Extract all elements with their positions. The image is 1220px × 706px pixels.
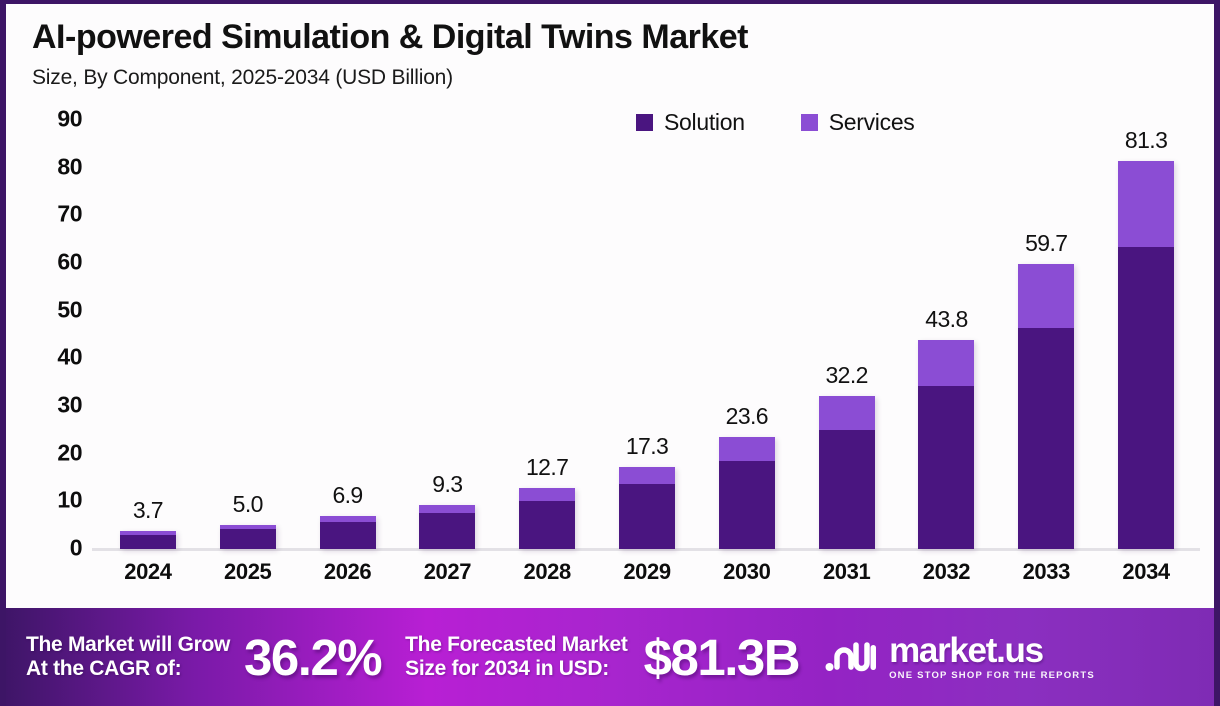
bar-group[interactable]: 12.7	[519, 488, 575, 549]
bar-segment-solution[interactable]	[120, 535, 176, 549]
y-axis-tick: 20	[57, 439, 82, 466]
bar-total-label: 32.2	[825, 362, 867, 389]
bar-segment-services[interactable]	[419, 505, 475, 514]
logo-text: market.us ONE STOP SHOP FOR THE REPORTS	[889, 633, 1095, 681]
bar-total-label: 17.3	[626, 433, 668, 460]
bar-group[interactable]: 5.0	[220, 525, 276, 549]
market-us-logo[interactable]: market.us ONE STOP SHOP FOR THE REPORTS	[825, 633, 1095, 681]
y-axis-tick: 30	[57, 392, 82, 419]
chart-subtitle: Size, By Component, 2025-2034 (USD Billi…	[32, 66, 1214, 90]
bar-group[interactable]: 3.7	[120, 531, 176, 549]
y-axis-tick: 0	[70, 535, 82, 562]
bar-segment-services[interactable]	[1118, 161, 1174, 246]
x-axis: 2024202520262027202820292030203120322033…	[98, 559, 1196, 599]
bar-group[interactable]: 59.7	[1018, 264, 1074, 549]
bar-segment-solution[interactable]	[320, 522, 376, 549]
bars-container: 3.75.06.99.312.717.323.632.243.859.781.3	[98, 119, 1196, 549]
bar-group[interactable]: 17.3	[619, 467, 675, 549]
bar-stack[interactable]	[320, 516, 376, 549]
bar-group[interactable]: 43.8	[918, 340, 974, 549]
cagr-caption-line-2: At the CAGR of:	[26, 657, 230, 681]
plot-area: 0102030405060708090 3.75.06.99.312.717.3…	[6, 119, 1214, 599]
y-axis: 0102030405060708090	[6, 119, 92, 549]
cagr-value: 36.2%	[244, 628, 381, 687]
bar-total-label: 5.0	[233, 491, 263, 518]
bar-total-label: 43.8	[925, 306, 967, 333]
forecast-size-value: $81.3B	[644, 628, 799, 687]
x-axis-tick: 2028	[524, 559, 571, 585]
bar-stack[interactable]	[1018, 264, 1074, 549]
x-axis-tick: 2031	[823, 559, 870, 585]
bar-stack[interactable]	[120, 531, 176, 549]
bar-stack[interactable]	[220, 525, 276, 549]
bar-total-label: 6.9	[332, 482, 362, 509]
bar-segment-solution[interactable]	[719, 461, 775, 549]
logo-tagline: ONE STOP SHOP FOR THE REPORTS	[889, 670, 1095, 681]
bar-segment-solution[interactable]	[619, 484, 675, 549]
x-axis-tick: 2032	[923, 559, 970, 585]
x-axis-tick: 2030	[723, 559, 770, 585]
bar-stack[interactable]	[1118, 161, 1174, 549]
y-axis-tick: 90	[57, 106, 82, 133]
bar-segment-solution[interactable]	[519, 501, 575, 549]
bar-stack[interactable]	[918, 340, 974, 549]
market-infographic: AI-powered Simulation & Digital Twins Ma…	[0, 0, 1220, 706]
x-axis-tick: 2025	[224, 559, 271, 585]
y-axis-tick: 50	[57, 296, 82, 323]
cagr-caption: The Market will Grow At the CAGR of:	[26, 633, 230, 682]
bar-total-label: 59.7	[1025, 230, 1067, 257]
bar-segment-solution[interactable]	[918, 386, 974, 549]
bar-segment-services[interactable]	[519, 488, 575, 500]
forecast-caption-line-2: Size for 2034 in USD:	[405, 657, 627, 681]
y-axis-tick: 70	[57, 201, 82, 228]
bar-segment-solution[interactable]	[1118, 247, 1174, 549]
bar-group[interactable]: 6.9	[320, 516, 376, 549]
bar-segment-solution[interactable]	[419, 513, 475, 549]
bar-total-label: 9.3	[432, 471, 462, 498]
y-axis-tick: 60	[57, 249, 82, 276]
y-axis-tick: 80	[57, 153, 82, 180]
cagr-caption-line-1: The Market will Grow	[26, 633, 230, 657]
bar-segment-solution[interactable]	[1018, 328, 1074, 549]
bar-stack[interactable]	[719, 437, 775, 549]
logo-wordmark: market.us	[889, 633, 1095, 668]
bar-group[interactable]: 81.3	[1118, 161, 1174, 549]
bar-segment-solution[interactable]	[819, 430, 875, 549]
footer-stats-banner: The Market will Grow At the CAGR of: 36.…	[0, 608, 1220, 706]
bar-group[interactable]: 23.6	[719, 437, 775, 549]
bar-stack[interactable]	[519, 488, 575, 549]
bar-segment-services[interactable]	[918, 340, 974, 386]
bar-stack[interactable]	[619, 467, 675, 549]
bar-total-label: 3.7	[133, 497, 163, 524]
x-axis-tick: 2033	[1023, 559, 1070, 585]
bar-total-label: 23.6	[726, 403, 768, 430]
x-axis-tick: 2027	[424, 559, 471, 585]
forecast-caption-line-1: The Forecasted Market	[405, 633, 627, 657]
bar-segment-services[interactable]	[819, 396, 875, 430]
bar-total-label: 12.7	[526, 454, 568, 481]
page-title: AI-powered Simulation & Digital Twins Ma…	[32, 18, 1214, 57]
bar-segment-services[interactable]	[719, 437, 775, 461]
chart-header: AI-powered Simulation & Digital Twins Ma…	[6, 4, 1214, 90]
x-axis-tick: 2024	[124, 559, 171, 585]
y-axis-tick: 40	[57, 344, 82, 371]
x-axis-tick: 2034	[1122, 559, 1169, 585]
bar-group[interactable]: 32.2	[819, 396, 875, 549]
y-axis-tick: 10	[57, 487, 82, 514]
bar-segment-services[interactable]	[1018, 264, 1074, 328]
x-axis-tick: 2029	[623, 559, 670, 585]
bar-stack[interactable]	[819, 396, 875, 549]
market-us-logo-icon	[825, 637, 877, 677]
x-axis-tick: 2026	[324, 559, 371, 585]
bar-total-label: 81.3	[1125, 127, 1167, 154]
bar-stack[interactable]	[419, 505, 475, 549]
forecast-size-caption: The Forecasted Market Size for 2034 in U…	[405, 633, 627, 682]
bar-segment-services[interactable]	[619, 467, 675, 484]
bar-group[interactable]: 9.3	[419, 505, 475, 549]
bar-segment-solution[interactable]	[220, 529, 276, 549]
